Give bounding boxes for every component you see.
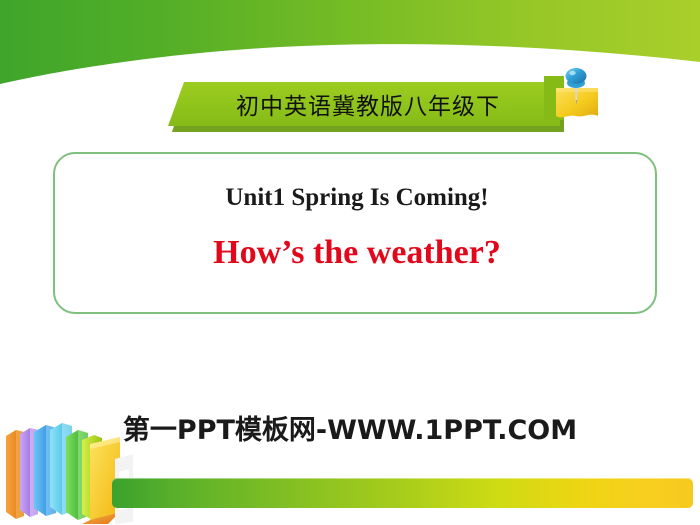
lesson-subtitle: Unit1 Spring Is Coming! — [55, 184, 659, 212]
page-title: How’s the weather? — [55, 234, 659, 272]
course-banner: 初中英语冀教版八年级下 — [168, 82, 568, 134]
footer-gradient-bar — [112, 478, 693, 508]
slide-canvas: 初中英语冀教版八年级下 — [0, 0, 700, 525]
pushpin-sticky-note — [544, 66, 606, 132]
banner-label: 初中英语冀教版八年级下 — [168, 82, 560, 126]
content-box: Unit1 Spring Is Coming! How’s the weathe… — [53, 152, 657, 314]
